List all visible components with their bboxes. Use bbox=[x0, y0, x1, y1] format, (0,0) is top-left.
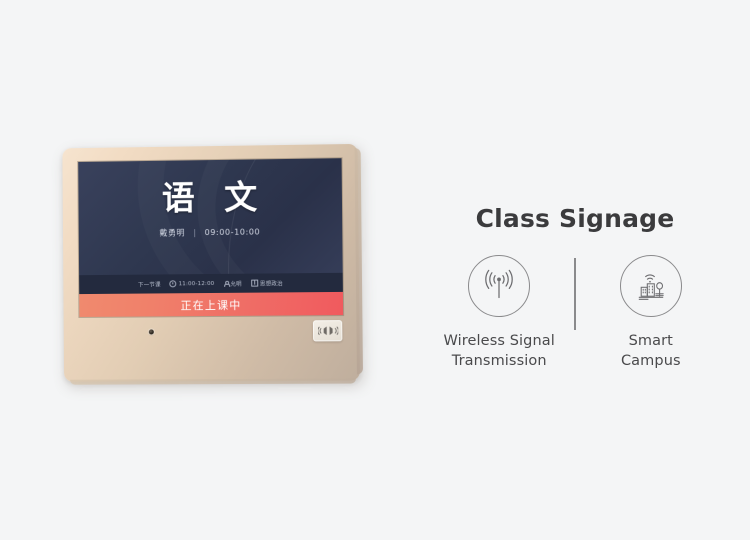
wireless-antenna-icon bbox=[480, 267, 518, 305]
feature-wireless-signal-transmission: Wireless Signal Transmission bbox=[430, 255, 568, 371]
device-bottom-face bbox=[70, 378, 356, 384]
subject-title: 语 文 bbox=[78, 179, 342, 215]
decorative-swoosh-3 bbox=[227, 158, 343, 275]
next-class-bar: 下一节课 11:00-12:00 允明 思想政治 bbox=[79, 273, 343, 294]
class-meta: 戴勇明 | 09:00-10:00 bbox=[79, 226, 343, 240]
feature-caption: Smart Campus bbox=[621, 332, 681, 371]
smart-campus-icon bbox=[632, 267, 670, 305]
person-icon bbox=[223, 281, 228, 286]
nfc-card-reader-icon bbox=[317, 325, 337, 336]
page-title: Class Signage bbox=[400, 204, 750, 233]
device-showcase-area: 语 文 戴勇明 | 09:00-10:00 下一节课 11:00-12:00 bbox=[0, 0, 400, 540]
device-screen[interactable]: 语 文 戴勇明 | 09:00-10:00 下一节课 11:00-12:00 bbox=[78, 158, 343, 317]
next-class-teacher: 允明 bbox=[230, 279, 241, 287]
clock-icon bbox=[170, 280, 177, 287]
class-time: 09:00-10:00 bbox=[205, 227, 261, 237]
next-class-teacher-item: 允明 bbox=[223, 279, 241, 287]
screen-main-panel: 语 文 戴勇明 | 09:00-10:00 bbox=[78, 158, 342, 275]
next-class-time-item: 11:00-12:00 bbox=[170, 280, 215, 287]
next-class-time: 11:00-12:00 bbox=[179, 280, 215, 286]
nfc-card-reader[interactable] bbox=[313, 320, 343, 341]
camera-dot bbox=[149, 329, 154, 334]
feature-caption: Wireless Signal Transmission bbox=[444, 332, 555, 371]
book-icon bbox=[251, 280, 258, 287]
next-class-label: 下一节课 bbox=[138, 280, 161, 288]
next-class-label-item: 下一节课 bbox=[138, 280, 161, 288]
next-class-subject-item: 思想政治 bbox=[251, 279, 283, 287]
info-panel: Class Signage Wireless Sig bbox=[400, 0, 750, 540]
status-banner: 正在上课中 bbox=[79, 292, 343, 317]
teacher-name: 戴勇明 bbox=[159, 228, 185, 237]
feature-smart-campus: Smart Campus bbox=[582, 255, 720, 371]
feature-list: Wireless Signal Transmission bbox=[400, 255, 750, 371]
meta-separator: | bbox=[193, 228, 196, 237]
feature-icon-circle bbox=[468, 255, 530, 317]
device-side-face bbox=[355, 148, 363, 375]
feature-divider bbox=[574, 258, 576, 330]
class-signage-device: 语 文 戴勇明 | 09:00-10:00 下一节课 11:00-12:00 bbox=[62, 144, 360, 382]
feature-icon-circle bbox=[620, 255, 682, 317]
next-class-subject: 思想政治 bbox=[260, 279, 283, 287]
